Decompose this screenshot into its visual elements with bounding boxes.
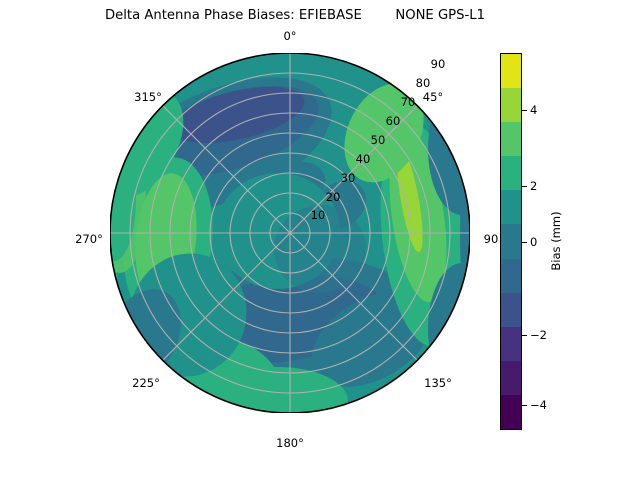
colorbar-tick-4 — [522, 110, 527, 111]
colorbar-band-7 — [501, 293, 521, 327]
colorbar-ticklabel-4: 4 — [530, 103, 537, 117]
colorbar-tick-neg4 — [522, 405, 527, 406]
radial-tick-30: 30 — [341, 171, 356, 185]
figure-title: Delta Antenna Phase Biases: EFIEBASE NON… — [0, 8, 590, 23]
colorbar-band-10 — [501, 395, 521, 429]
colorbar-ticklabel-0: 0 — [530, 235, 537, 249]
polar-contour-svg — [110, 53, 470, 413]
colorbar-gradient — [500, 53, 522, 430]
angular-tick-270: 270° — [75, 232, 103, 246]
radial-tick-70: 70 — [401, 95, 416, 109]
radial-tick-10: 10 — [311, 208, 326, 222]
angular-tick-315: 315° — [134, 90, 162, 104]
colorbar-tick-0 — [522, 242, 527, 243]
angular-tick-90: 90 — [484, 232, 499, 246]
angular-tick-0: 0° — [283, 29, 296, 43]
colorbar[interactable]: 4 2 0 −2 −4 — [500, 53, 522, 430]
colorbar-band-3 — [501, 156, 521, 190]
polar-plot[interactable]: 0° 45° 90 135° 180° 225° 270° 315° 10 20… — [110, 53, 470, 413]
angular-tick-225: 225° — [132, 376, 160, 390]
colorbar-tick-2 — [522, 186, 527, 187]
colorbar-band-4 — [501, 190, 521, 224]
radial-tick-90: 90 — [431, 57, 446, 71]
colorbar-ticklabel-neg4: −4 — [530, 398, 547, 412]
colorbar-band-1 — [501, 88, 521, 122]
radial-tick-60: 60 — [386, 114, 401, 128]
colorbar-ticklabel-neg2: −2 — [530, 328, 547, 342]
colorbar-band-9 — [501, 361, 521, 395]
angular-tick-180: 180° — [276, 436, 304, 450]
colorbar-band-2 — [501, 122, 521, 156]
colorbar-axis-label: Bias (mm) — [549, 211, 563, 270]
radial-tick-40: 40 — [356, 152, 371, 166]
colorbar-tick-neg2 — [522, 335, 527, 336]
colorbar-ticklabel-2: 2 — [530, 179, 537, 193]
angular-tick-45: 45° — [423, 90, 443, 104]
colorbar-band-5 — [501, 224, 521, 258]
angular-tick-135: 135° — [424, 376, 452, 390]
radial-tick-20: 20 — [326, 190, 341, 204]
angular-gridlines — [110, 53, 470, 413]
radial-tick-80: 80 — [416, 76, 431, 90]
colorbar-band-0 — [501, 54, 521, 88]
figure-canvas: Delta Antenna Phase Biases: EFIEBASE NON… — [0, 0, 640, 480]
radial-tick-50: 50 — [371, 133, 386, 147]
colorbar-band-6 — [501, 259, 521, 293]
colorbar-band-8 — [501, 327, 521, 361]
